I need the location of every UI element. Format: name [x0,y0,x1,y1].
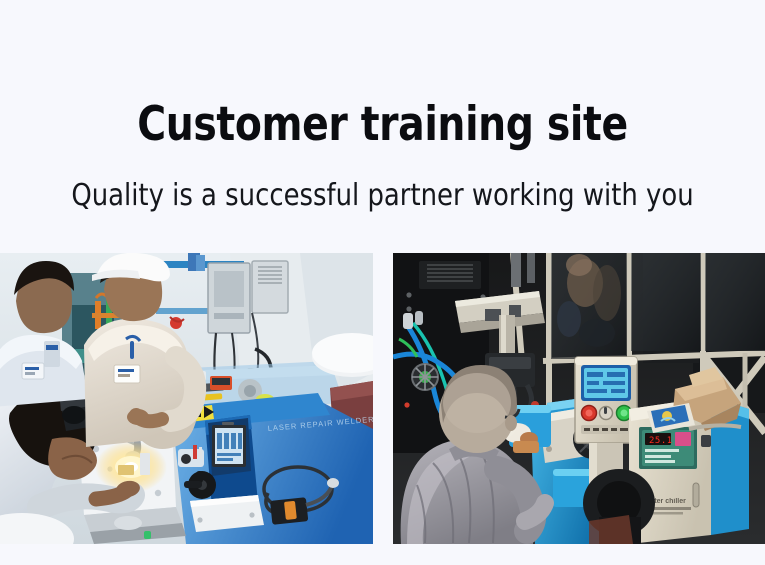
page-title: Customer training site [27,101,738,148]
footer-strip [0,544,765,565]
training-workshop-illustration: LASER REPAIR WELDER [0,253,373,544]
page-root: Customer training site Quality is a succ… [0,0,765,565]
automated-welding-cell-illustration: 25.1 water chiller [393,253,765,544]
gallery-photo-right[interactable]: 25.1 water chiller [393,253,765,544]
header-banner: Customer training site Quality is a succ… [0,0,765,253]
gallery-photo-left[interactable]: LASER REPAIR WELDER [0,253,373,544]
photo-gallery: LASER REPAIR WELDER [0,253,765,544]
page-subtitle: Quality is a successful partner working … [15,181,749,211]
gallery-gap [373,253,393,544]
svg-text:25.1: 25.1 [649,436,673,446]
